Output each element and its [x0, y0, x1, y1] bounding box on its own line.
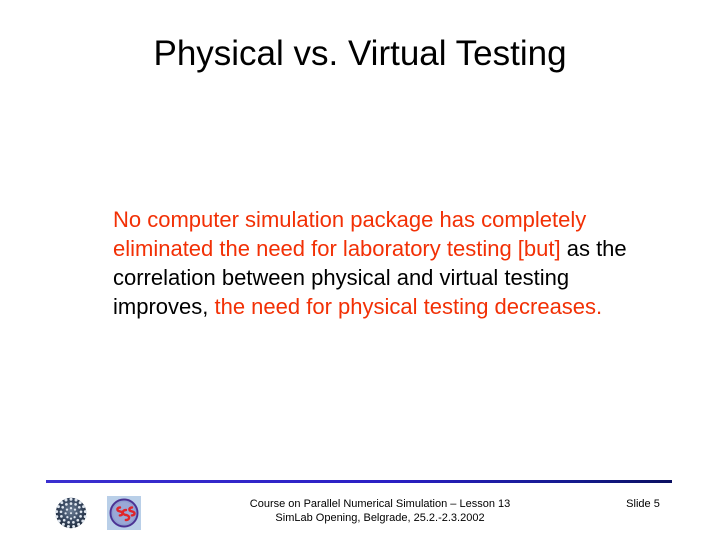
page-title: Physical vs. Virtual Testing: [0, 32, 720, 76]
footer-text: Course on Parallel Numerical Simulation …: [160, 497, 600, 525]
footer-line-2: SimLab Opening, Belgrade, 25.2.-2.3.2002: [160, 511, 600, 525]
body-text: No computer simulation package has compl…: [113, 205, 653, 321]
footer-divider: [46, 480, 672, 483]
body-segment-red-1: No computer simulation package has compl…: [113, 207, 586, 261]
footer-line-1: Course on Parallel Numerical Simulation …: [160, 497, 600, 511]
sgs-emblem-logo: [107, 496, 141, 530]
body-segment-red-2: the need for physical testing decreases.: [214, 294, 602, 319]
slide-canvas: Physical vs. Virtual Testing No computer…: [0, 0, 720, 540]
slide-number: Slide 5: [600, 497, 686, 511]
particle-sphere-logo: [54, 496, 88, 530]
